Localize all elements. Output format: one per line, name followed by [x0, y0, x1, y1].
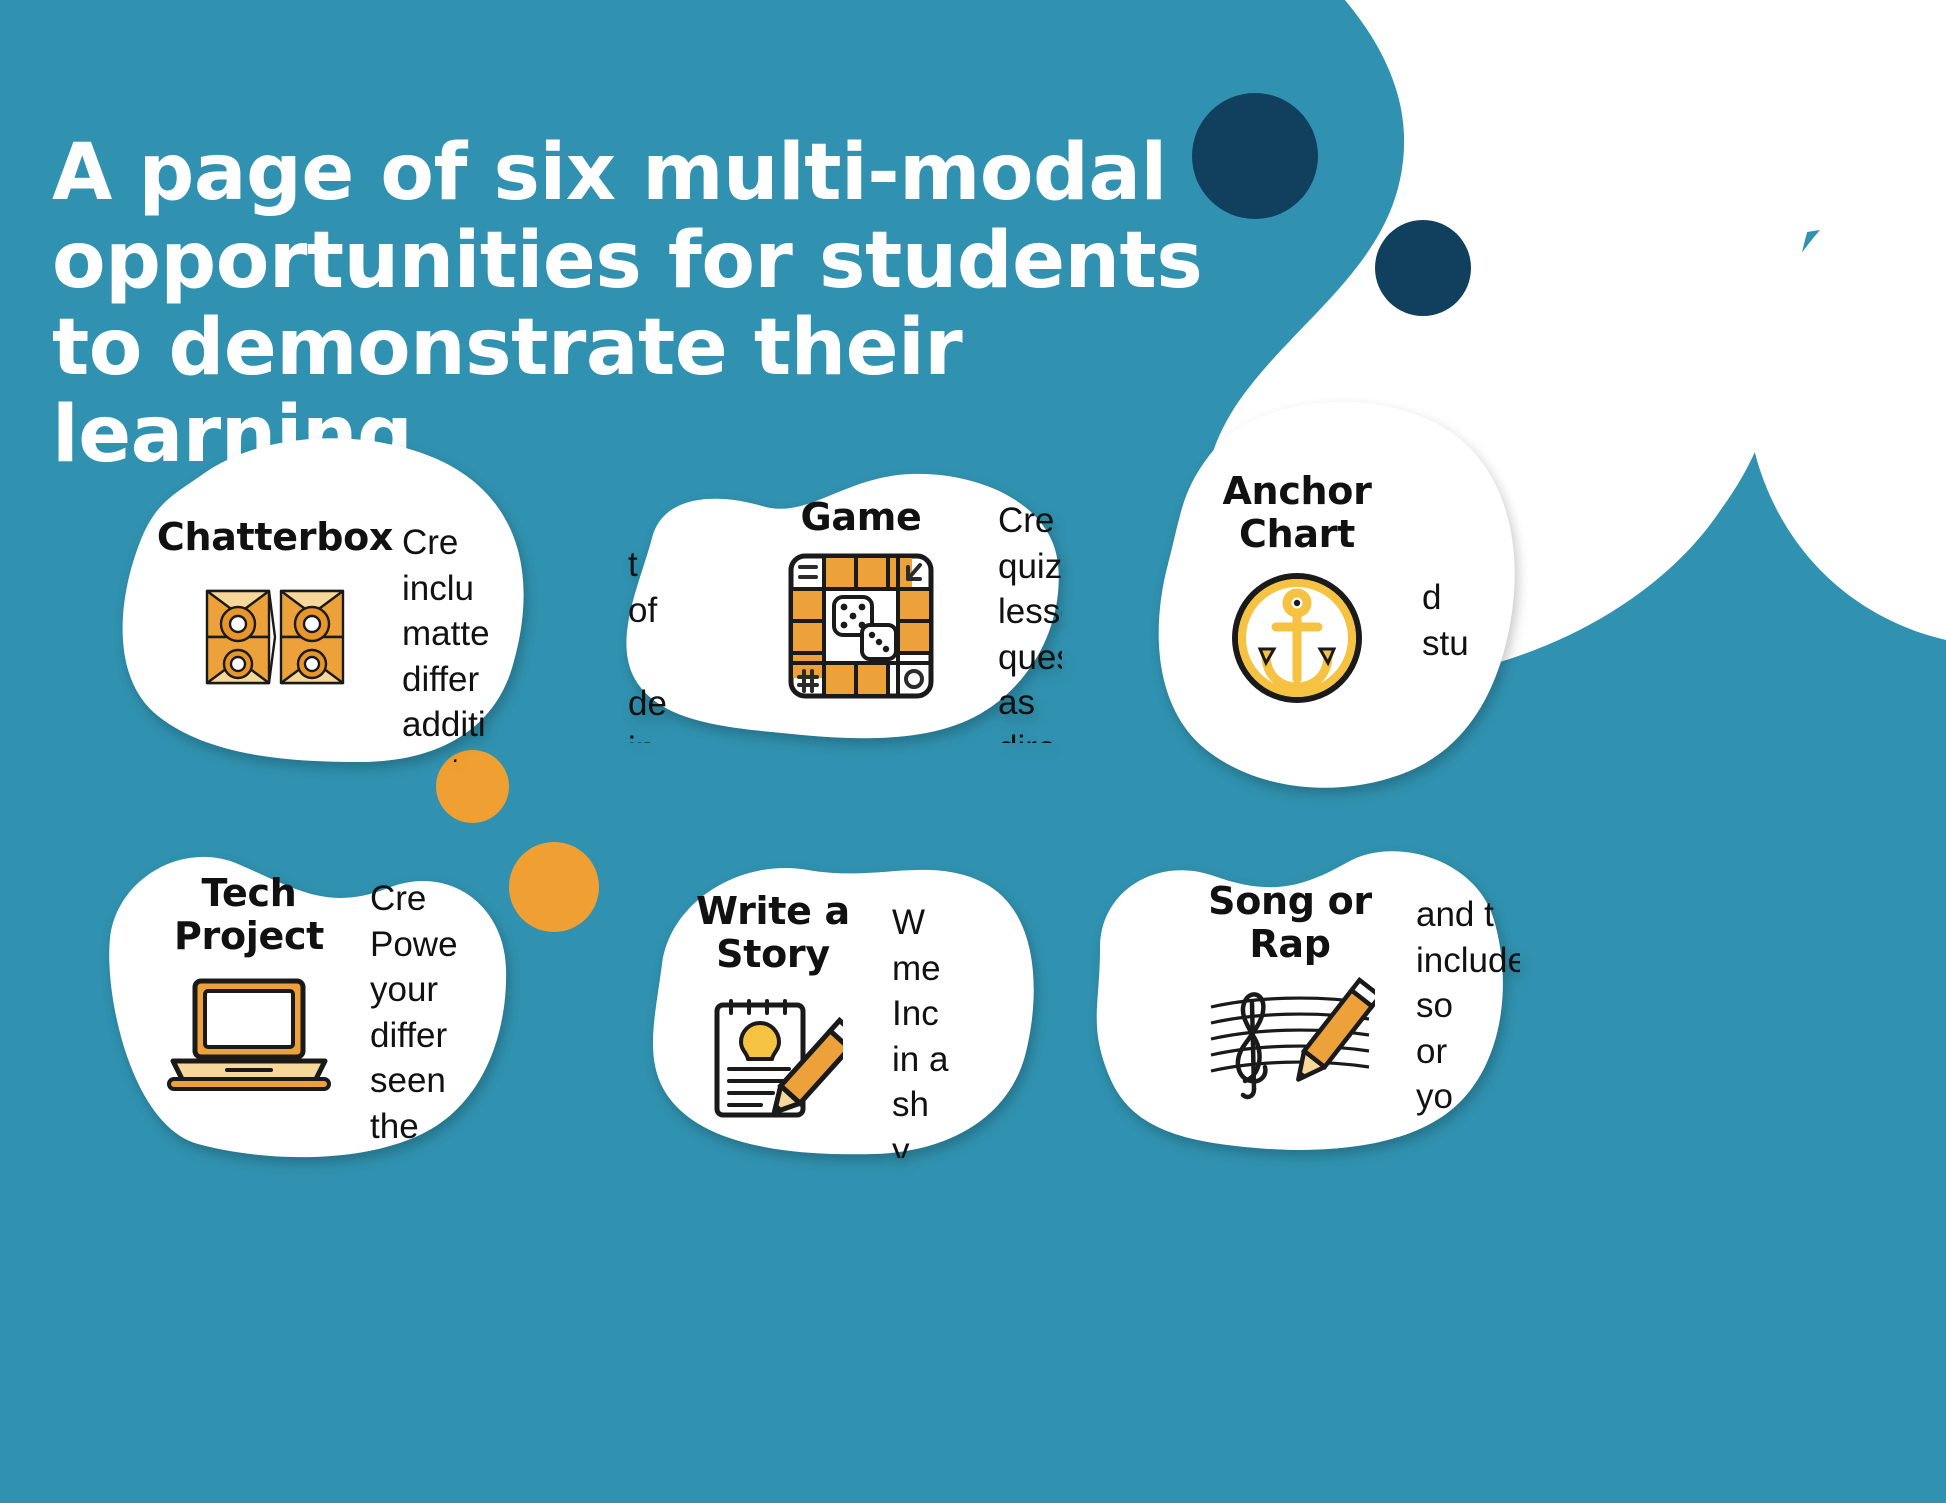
card-chatterbox[interactable]: Chatterbox: [110, 432, 530, 762]
card-chatterbox-title: Chatterbox: [157, 516, 393, 559]
card-song-body: and t include so or yo: [1416, 892, 1520, 1120]
navy-dot-small: [1375, 220, 1471, 316]
laptop-icon: [165, 969, 333, 1095]
card-tech-title: Tech Project: [140, 872, 358, 957]
card-anchor-body: d stu: [1422, 484, 1522, 666]
page-title: A page of six multi-modal opportunities …: [52, 130, 1212, 479]
board-game-icon: [786, 551, 936, 701]
card-chatterbox-body: Cre inclu matte differ additi mat: [402, 520, 530, 762]
music-notes-pencil-icon: [1205, 977, 1375, 1105]
notepad-pencil-idea-icon: [703, 987, 843, 1127]
card-game-body: Cre quiz g lesson questi as dire Illust …: [998, 498, 1062, 743]
card-tech-left: Tech Project: [140, 872, 358, 1095]
card-tech-project[interactable]: Tech Project Cre Powe your differ seen t…: [88, 818, 508, 1158]
orange-dot-large: [509, 842, 599, 932]
card-game-pre-body: t of de in: [628, 542, 738, 743]
card-tech-body: Cre Powe your differ seen the: [370, 876, 508, 1149]
card-write-left: Write a Story: [668, 890, 878, 1127]
card-song-left: Song or Rap: [1174, 880, 1406, 1105]
card-song-or-rap[interactable]: Song or Rap: [1090, 828, 1520, 1158]
card-game-title: Game: [800, 496, 921, 539]
card-write-body: W me Inc in a sh y: [892, 900, 1042, 1158]
card-game-left: Game: [742, 496, 980, 701]
poster-canvas: A page of six multi-modal opportunities …: [0, 0, 1946, 1503]
card-write-a-story[interactable]: Write a Story: [622, 848, 1042, 1158]
card-anchor-title: Anchor Chart: [1182, 470, 1412, 555]
chatterbox-origami-icon: [199, 571, 351, 703]
card-write-title: Write a Story: [668, 890, 878, 975]
card-game[interactable]: t of de in Game: [612, 468, 1062, 743]
card-chatterbox-left: Chatterbox: [164, 516, 386, 703]
anchor-icon: [1226, 567, 1368, 709]
card-song-title: Song or Rap: [1174, 880, 1406, 965]
card-anchor-left: Anchor Chart: [1182, 470, 1412, 709]
card-anchor-chart[interactable]: Anchor Chart: [1142, 392, 1522, 792]
